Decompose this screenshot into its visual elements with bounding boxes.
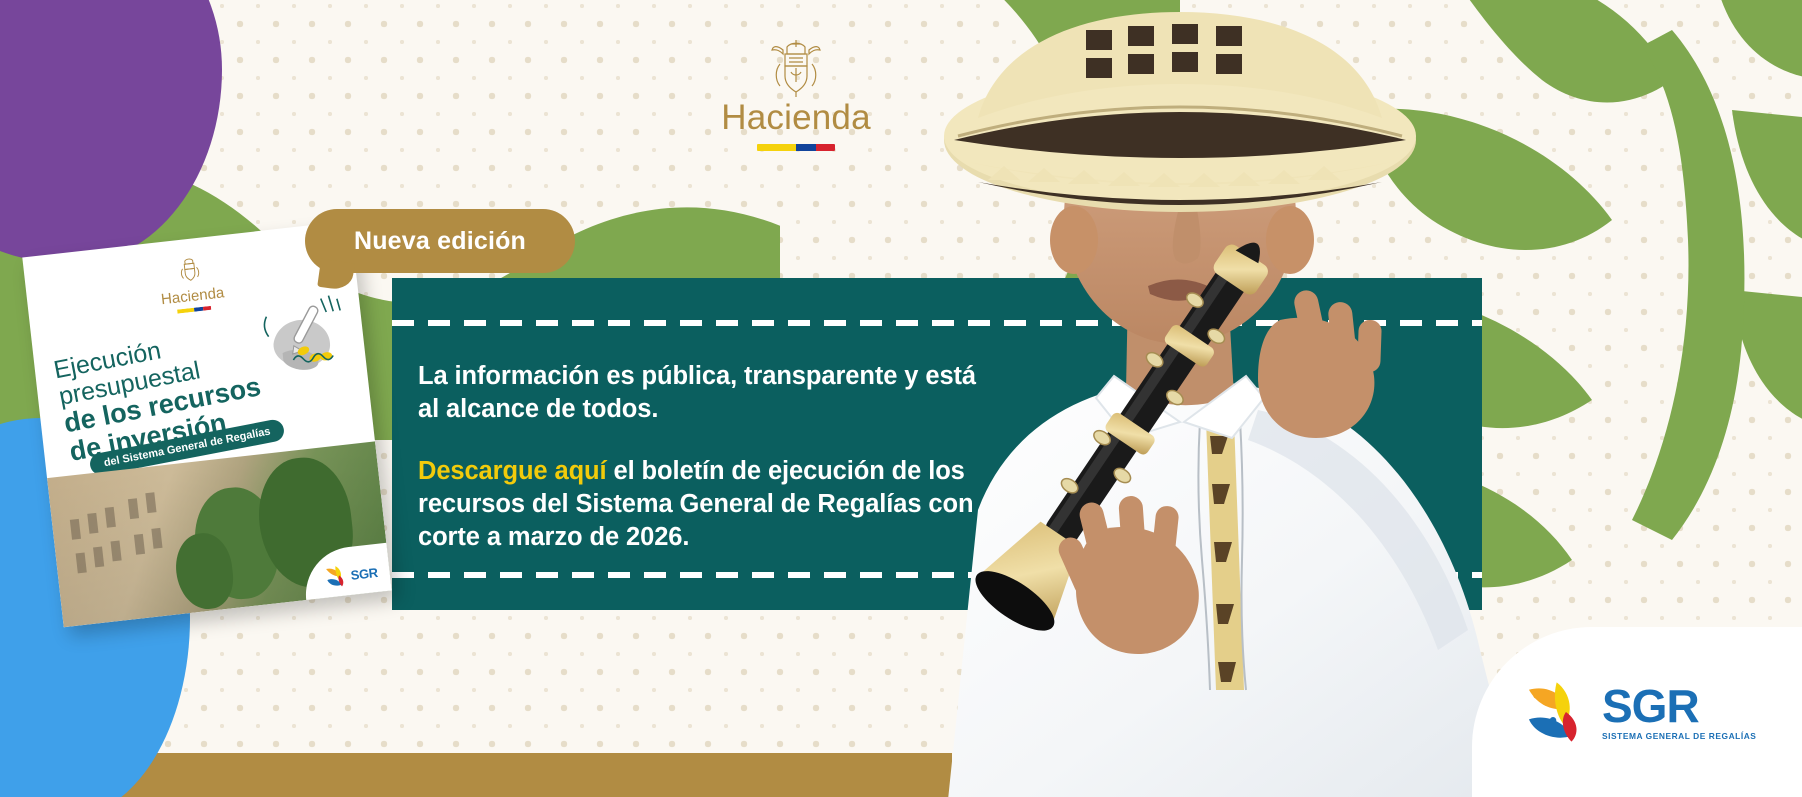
sgr-swoosh-icon bbox=[1516, 675, 1590, 749]
sgr-full-name: SISTEMA GENERAL DE REGALÍAS bbox=[1602, 732, 1756, 740]
sgr-logo-icon bbox=[320, 562, 349, 591]
sgr-acronym: SGR bbox=[1602, 683, 1756, 729]
sgr-wordmark: SGR SISTEMA GENERAL DE REGALÍAS bbox=[1602, 683, 1756, 740]
colombia-flag-bar-icon bbox=[177, 306, 211, 313]
colombia-flag-bar-icon bbox=[757, 144, 835, 151]
colombia-coat-of-arms-icon bbox=[175, 254, 204, 285]
nueva-edicion-badge[interactable]: Nueva edición bbox=[305, 209, 575, 273]
hacienda-brand-lockup: Hacienda bbox=[716, 34, 876, 151]
musician-clarinet-photo bbox=[828, 0, 1588, 797]
download-link[interactable]: Descargue aquí bbox=[418, 457, 607, 485]
sgr-logo-block: SGR SISTEMA GENERAL DE REGALÍAS bbox=[1472, 627, 1802, 797]
booklet-sgr-text: SGR bbox=[350, 564, 378, 582]
nueva-edicion-label: Nueva edición bbox=[354, 227, 526, 256]
colombia-coat-of-arms-icon bbox=[767, 34, 825, 98]
promotional-banner: Hacienda La información es pública, tran… bbox=[0, 0, 1802, 797]
hacienda-wordmark: Hacienda bbox=[716, 100, 876, 135]
